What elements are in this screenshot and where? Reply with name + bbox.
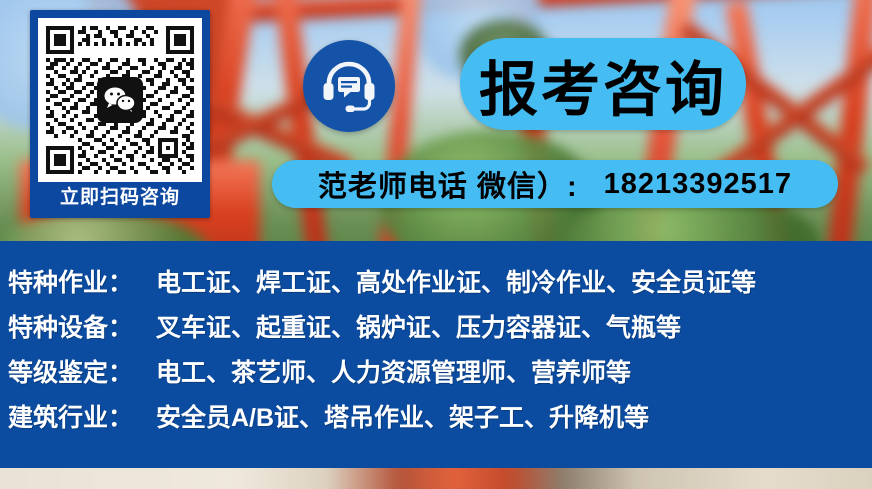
qr-caption: 立即扫码咨询 [38, 182, 202, 214]
wechat-glyph [103, 86, 137, 114]
category-label: 建筑行业： [8, 398, 156, 434]
category-items: 电工、茶艺师、人力资源管理师、营养师等 [156, 353, 631, 389]
contact-label: 范老师电话 微信）: [318, 163, 578, 205]
promo-poster: 立即扫码咨询 报考咨询 [0, 0, 872, 489]
contact-phone-pill[interactable]: 范老师电话 微信）: 18213392517 [272, 160, 838, 208]
category-label: 等级鉴定： [8, 353, 156, 389]
consult-title-text: 报考咨询 [479, 42, 727, 127]
headset-support-icon [303, 40, 395, 132]
wechat-icon [97, 77, 143, 123]
banner-background: 立即扫码咨询 报考咨询 [0, 0, 872, 242]
category-row: 等级鉴定： 电工、茶艺师、人力资源管理师、营养师等 [8, 353, 872, 398]
qr-code-card[interactable]: 立即扫码咨询 [30, 10, 210, 218]
category-row: 特种设备： 叉车证、起重证、锅炉证、压力容器证、气瓶等 [8, 308, 872, 353]
category-row: 建筑行业： 安全员A/B证、塔吊作业、架子工、升降机等 [8, 398, 872, 443]
category-label: 特种设备： [8, 308, 156, 344]
category-label: 特种作业： [8, 263, 156, 299]
contact-phone-number: 18213392517 [604, 168, 792, 201]
category-items: 电工证、焊工证、高处作业证、制冷作业、安全员证等 [156, 263, 756, 299]
consult-title-pill[interactable]: 报考咨询 [460, 38, 746, 130]
certificate-categories-panel: 特种作业： 电工证、焊工证、高处作业证、制冷作业、安全员证等 特种设备： 叉车证… [0, 241, 872, 468]
category-items: 叉车证、起重证、锅炉证、压力容器证、气瓶等 [156, 308, 681, 344]
bottom-photo-blur [0, 468, 872, 489]
qr-code-image[interactable] [38, 18, 202, 182]
category-row: 特种作业： 电工证、焊工证、高处作业证、制冷作业、安全员证等 [8, 263, 872, 308]
headset-glyph [320, 58, 378, 114]
category-items: 安全员A/B证、塔吊作业、架子工、升降机等 [156, 398, 649, 434]
bottom-photo-strip [0, 468, 872, 489]
